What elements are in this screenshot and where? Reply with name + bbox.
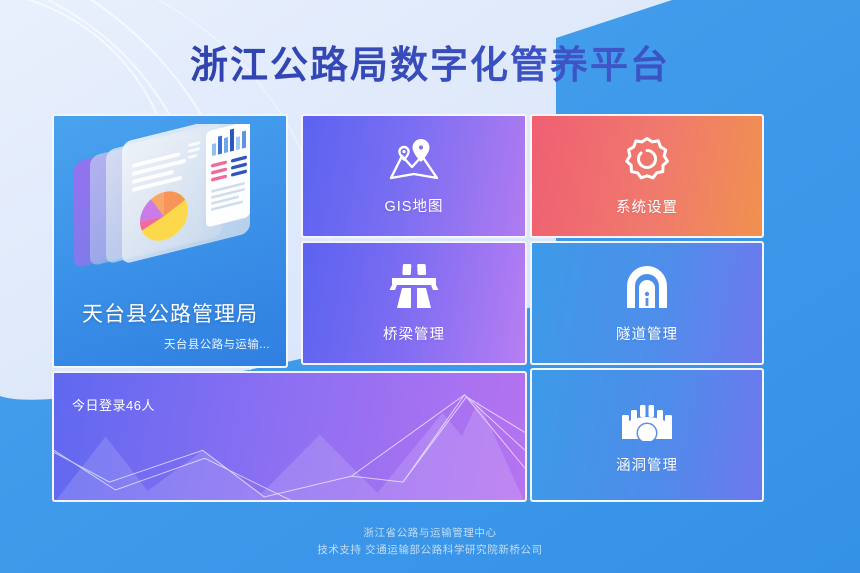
footer-line-1: 浙江省公路与运输管理中心 — [0, 525, 860, 542]
org-subtitle: 天台县公路与运输... — [68, 336, 272, 352]
tile-tunnel-management[interactable]: 隧道管理 — [530, 241, 764, 365]
tile-grid: 天台县公路管理局 天台县公路与运输... GIS地图 系统设置 — [52, 114, 764, 502]
map-pin-icon — [388, 136, 440, 182]
tile-system-settings[interactable]: 系统设置 — [530, 114, 764, 238]
culvert-icon — [620, 395, 674, 441]
page-title: 浙江公路局数字化管养平台 — [0, 34, 860, 89]
stats-label: 今日登录46人 — [72, 395, 155, 414]
tile-system-settings-label: 系统设置 — [616, 196, 678, 217]
dashboard-illustration — [60, 124, 284, 294]
tile-bridge-management[interactable]: 桥梁管理 — [301, 241, 527, 365]
org-card[interactable]: 天台县公路管理局 天台县公路与运输... — [52, 114, 288, 368]
footer: 浙江省公路与运输管理中心 技术支持 交通运输部公路科学研究院新桥公司 — [0, 525, 860, 559]
tunnel-icon — [623, 262, 671, 310]
gear-icon — [623, 135, 671, 183]
tile-gis-map[interactable]: GIS地图 — [301, 114, 527, 238]
tile-tunnel-label: 隧道管理 — [616, 323, 678, 344]
stats-mountain-graphic — [54, 373, 525, 502]
tile-gis-label: GIS地图 — [385, 195, 444, 216]
tile-bridge-label: 桥梁管理 — [383, 323, 445, 344]
bridge-icon — [389, 262, 439, 310]
tile-culvert-management[interactable]: 涵洞管理 — [530, 368, 764, 502]
org-name: 天台县公路管理局 — [68, 298, 272, 328]
stats-card-today-logins[interactable]: 今日登录46人 — [52, 371, 527, 502]
footer-line-2: 技术支持 交通运输部公路科学研究院新桥公司 — [0, 542, 860, 559]
tile-culvert-label: 涵洞管理 — [616, 454, 678, 475]
